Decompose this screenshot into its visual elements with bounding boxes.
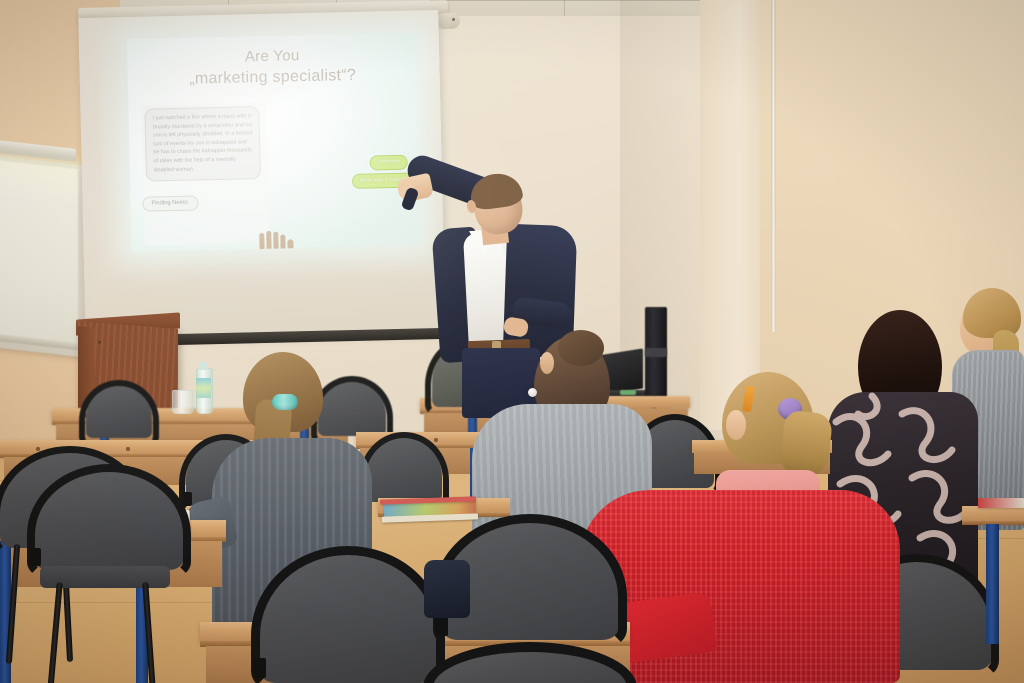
screen-roller-screw <box>452 18 455 21</box>
desk-right-leg <box>986 524 999 644</box>
desk-right-top <box>962 506 1024 522</box>
middle-ear <box>540 352 554 374</box>
chair-front-center[interactable] <box>258 552 438 683</box>
frontright-ear <box>726 410 746 440</box>
desk-screw <box>126 447 130 451</box>
screen-roller-end-cap <box>436 13 460 29</box>
pearl-earring <box>528 388 537 397</box>
projected-slide: Are You „marketing specialist“? I just w… <box>127 32 422 252</box>
slide-hand-graphic <box>257 230 297 249</box>
water-bottle-cap <box>199 362 208 370</box>
chat-bubble-incoming: I just watched a film where a mans wife … <box>144 106 261 182</box>
chair-front-left[interactable] <box>34 470 184 570</box>
middle-hair-bun <box>558 330 604 366</box>
whiteboard-light-glow <box>0 151 80 208</box>
slide-title-line-1: Are You <box>127 44 417 68</box>
classroom-photo: Are You „marketing specialist“? I just w… <box>0 0 1024 683</box>
chair-front-nearest[interactable] <box>430 648 630 683</box>
notebook-right-desk[interactable] <box>978 498 1024 508</box>
projection-screen: Are You „marketing specialist“? I just w… <box>78 10 445 348</box>
chat-bubble-finding-nemo: Finding Nemo. <box>142 195 198 211</box>
slide-title-line-2: „marketing specialist“? <box>128 65 418 90</box>
turquoise-scrunchie <box>272 394 298 410</box>
chat-bubble-uhhhhhh: uhhhhhh <box>370 155 408 171</box>
chair-back-left-1[interactable] <box>86 386 152 438</box>
usb-light <box>620 390 636 395</box>
drinking-glass[interactable] <box>172 390 193 414</box>
chair-row2-mid[interactable] <box>366 438 442 502</box>
bag-under-desk <box>424 560 470 618</box>
cable-conduit <box>771 0 776 332</box>
speaker-badge <box>645 348 667 357</box>
water-bottle-label <box>196 378 211 398</box>
chair-back-left-2[interactable] <box>318 382 386 436</box>
